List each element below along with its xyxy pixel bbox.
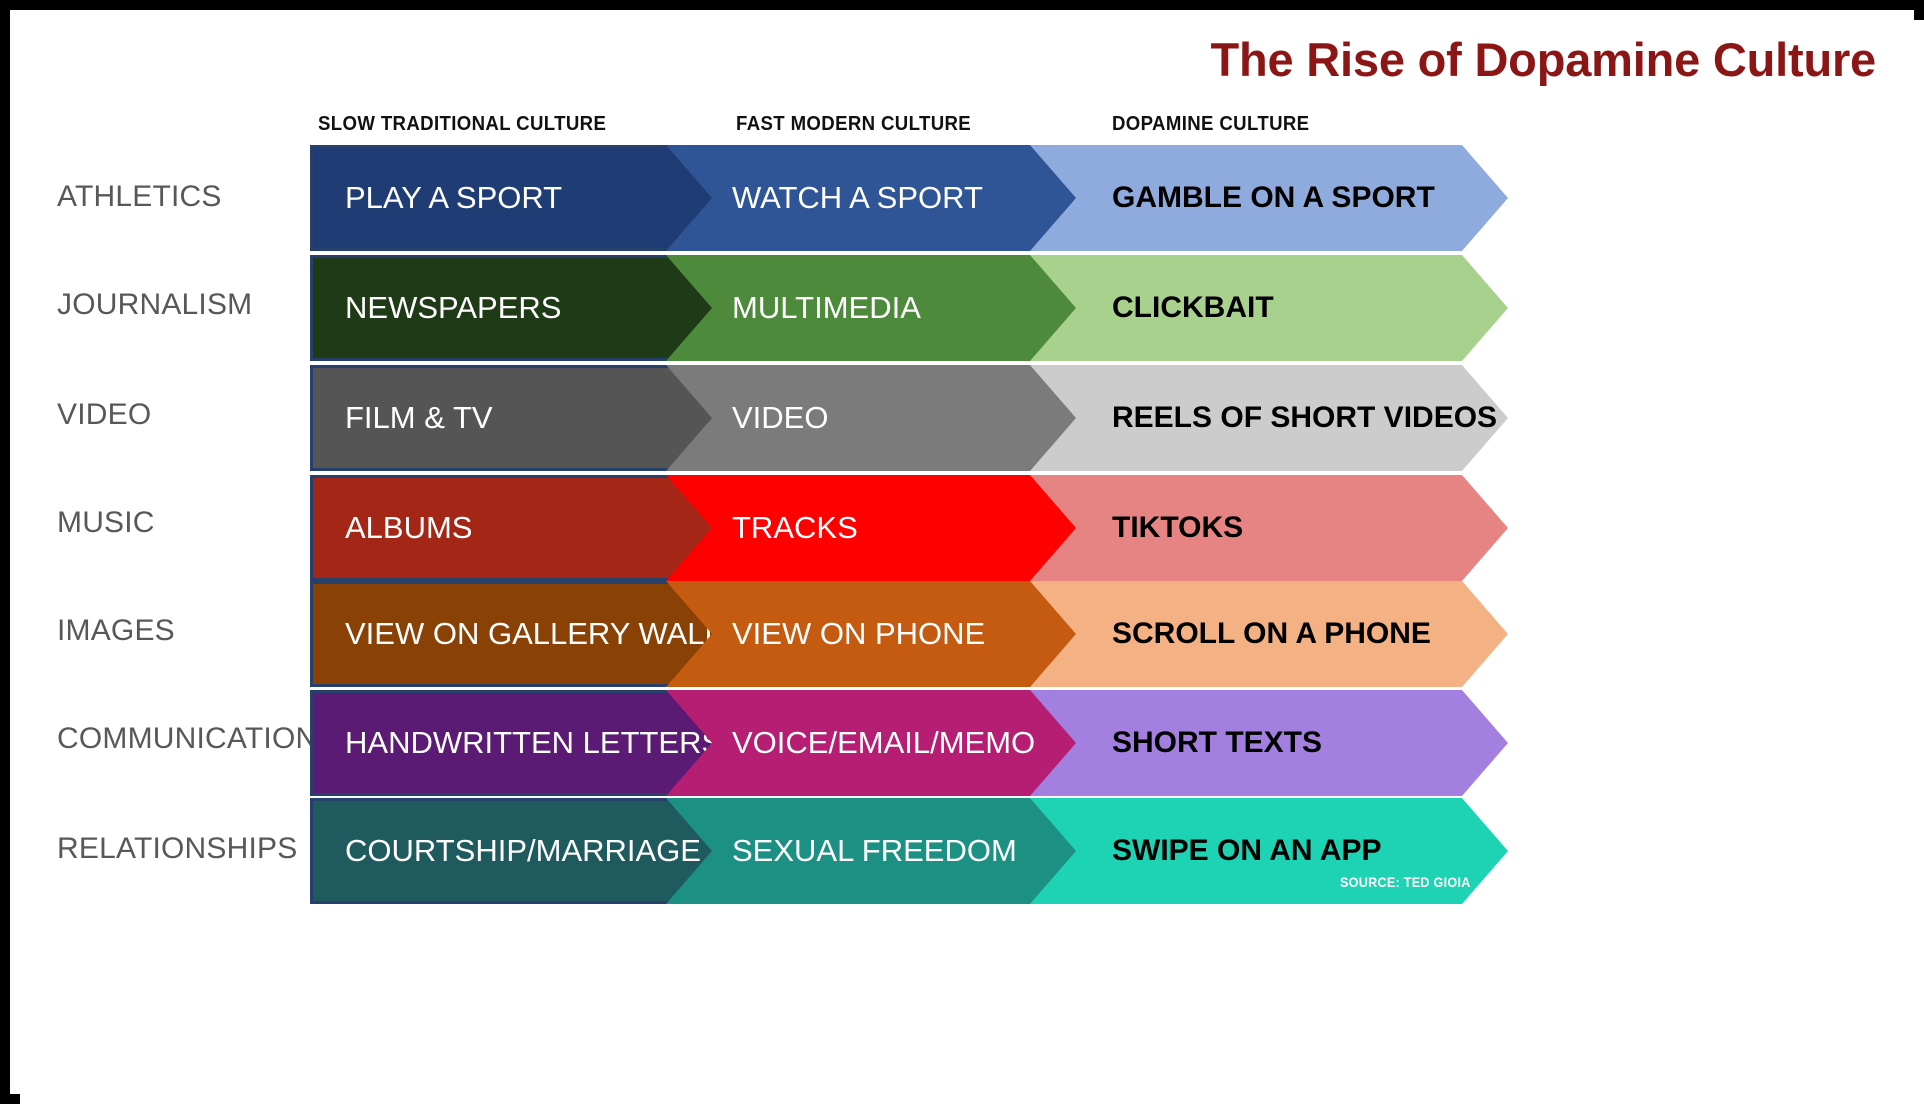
row-rule <box>310 684 712 687</box>
stage-arrow[interactable]: VIEW ON GALLERY WALL <box>310 581 712 687</box>
row-rule <box>310 358 712 361</box>
row-label: IMAGES <box>57 614 175 648</box>
culture-row: NEWSPAPERSMULTIMEDIACLICKBAIT <box>20 255 1924 361</box>
row-rule <box>310 581 313 687</box>
stage-label: GAMBLE ON A SPORT <box>1112 181 1435 215</box>
infographic-frame: The Rise of Dopamine Culture SLOW TRADIT… <box>0 0 1924 1104</box>
stage-arrow[interactable]: SHORT TEXTS <box>1026 690 1508 796</box>
stage-label: PLAY A SPORT <box>345 180 562 216</box>
stage-label: VIEW ON GALLERY WALL <box>345 616 722 652</box>
stage-label: VIEW ON PHONE <box>732 616 985 652</box>
stage-label: HANDWRITTEN LETTERS <box>345 725 722 761</box>
row-label: COMMUNICATION <box>57 722 317 756</box>
column-header-dopamine-culture: DOPAMINE CULTURE <box>1112 113 1309 136</box>
stage-label: WATCH A SPORT <box>732 180 983 216</box>
stage-arrow[interactable]: WATCH A SPORT <box>658 145 1076 251</box>
stage-arrow[interactable]: CLICKBAIT <box>1026 255 1508 361</box>
row-rule <box>310 475 712 478</box>
stage-label: NEWSPAPERS <box>345 290 561 326</box>
row-rule <box>310 365 313 471</box>
row-rule <box>310 578 712 581</box>
stage-arrow[interactable]: TIKTOKS <box>1026 475 1508 581</box>
stage-arrow[interactable]: TRACKS <box>658 475 1076 581</box>
stage-arrow[interactable]: SCROLL ON A PHONE <box>1026 581 1508 687</box>
stage-label: TIKTOKS <box>1112 511 1243 545</box>
stage-arrow[interactable]: NEWSPAPERS <box>310 255 712 361</box>
stage-arrow[interactable]: COURTSHIP/MARRIAGE <box>310 798 712 904</box>
row-rule <box>310 145 712 148</box>
column-header-slow-traditional-culture: SLOW TRADITIONAL CULTURE <box>318 113 606 136</box>
stage-label: SWIPE ON AN APP <box>1112 834 1381 868</box>
stage-label: ALBUMS <box>345 510 472 546</box>
culture-row: VIEW ON GALLERY WALLVIEW ON PHONESCROLL … <box>20 581 1924 687</box>
page-title: The Rise of Dopamine Culture <box>1210 32 1876 87</box>
stage-arrow[interactable]: ALBUMS <box>310 475 712 581</box>
row-rule <box>310 581 712 584</box>
row-label: MUSIC <box>57 506 155 540</box>
culture-row: COURTSHIP/MARRIAGESEXUAL FREEDOMSWIPE ON… <box>20 798 1924 904</box>
row-rule <box>310 365 712 368</box>
stage-label: MULTIMEDIA <box>732 290 921 326</box>
row-rule <box>310 468 712 471</box>
stage-label: SHORT TEXTS <box>1112 726 1322 760</box>
stage-label: SEXUAL FREEDOM <box>732 833 1017 869</box>
culture-row: FILM & TVVIDEOREELS OF SHORT VIDEOS <box>20 365 1924 471</box>
stage-label: TRACKS <box>732 510 858 546</box>
stage-arrow[interactable]: REELS OF SHORT VIDEOS <box>1026 365 1508 471</box>
source-credit: SOURCE: TED GIOIA <box>1340 874 1471 890</box>
stage-label: REELS OF SHORT VIDEOS <box>1112 401 1497 435</box>
row-label: JOURNALISM <box>57 288 252 322</box>
stage-label: COURTSHIP/MARRIAGE <box>345 833 701 869</box>
infographic-canvas: The Rise of Dopamine Culture SLOW TRADIT… <box>20 20 1924 1104</box>
row-rule <box>310 255 313 361</box>
row-rule <box>310 690 313 796</box>
row-rule <box>310 690 712 693</box>
row-label: ATHLETICS <box>57 180 222 214</box>
row-label: RELATIONSHIPS <box>57 832 297 866</box>
row-rule <box>310 145 313 251</box>
stage-arrow[interactable]: HANDWRITTEN LETTERS <box>310 690 712 796</box>
stage-arrow[interactable]: GAMBLE ON A SPORT <box>1026 145 1508 251</box>
stage-label: VIDEO <box>732 400 828 436</box>
stage-arrow[interactable]: PLAY A SPORT <box>310 145 712 251</box>
stage-label: SCROLL ON A PHONE <box>1112 617 1431 651</box>
culture-row: ALBUMSTRACKSTIKTOKS <box>20 475 1924 581</box>
stage-arrow[interactable]: VIEW ON PHONE <box>658 581 1076 687</box>
row-rule <box>310 798 313 904</box>
stage-arrow[interactable]: VOICE/EMAIL/MEMO <box>658 690 1076 796</box>
row-rule <box>310 475 313 581</box>
stage-label: VOICE/EMAIL/MEMO <box>732 725 1035 761</box>
row-rule <box>310 798 712 801</box>
stage-label: FILM & TV <box>345 400 493 436</box>
column-header-fast-modern-culture: FAST MODERN CULTURE <box>736 113 971 136</box>
stage-arrow[interactable]: MULTIMEDIA <box>658 255 1076 361</box>
row-rule <box>310 255 712 258</box>
row-label: VIDEO <box>57 398 151 432</box>
stage-arrow[interactable]: VIDEO <box>658 365 1076 471</box>
stage-label: CLICKBAIT <box>1112 291 1274 325</box>
stage-arrow[interactable]: FILM & TV <box>310 365 712 471</box>
row-rule <box>310 793 712 796</box>
row-rule <box>310 248 712 251</box>
row-rule <box>310 901 712 904</box>
culture-row: PLAY A SPORTWATCH A SPORTGAMBLE ON A SPO… <box>20 145 1924 251</box>
stage-arrow[interactable]: SEXUAL FREEDOM <box>658 798 1076 904</box>
